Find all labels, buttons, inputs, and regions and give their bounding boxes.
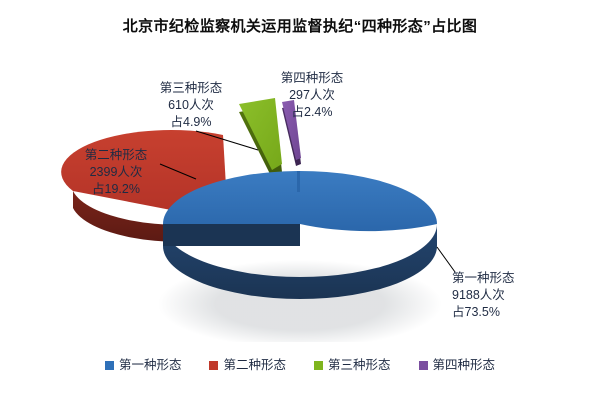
- data-label-3: 第三种形态 610人次 占4.9%: [143, 80, 239, 131]
- legend-label-4: 第四种形态: [433, 357, 496, 373]
- data-label-1-count: 9188人次: [452, 287, 515, 304]
- data-label-1-name: 第一种形态: [452, 270, 515, 287]
- data-label-3-percent: 占4.9%: [143, 114, 239, 131]
- legend-label-2: 第二种形态: [223, 357, 286, 373]
- plot-area: 第一种形态 9188人次 占73.5% 第二种形态 2399人次 占19.2% …: [0, 42, 600, 342]
- legend-item-3[interactable]: 第三种形态: [314, 357, 391, 373]
- pie-slice-1: [163, 171, 437, 299]
- data-label-1: 第一种形态 9188人次 占73.5%: [452, 270, 515, 321]
- data-label-1-percent: 占73.5%: [452, 304, 515, 321]
- pie-slice-1-notch: [297, 171, 300, 192]
- legend-item-1[interactable]: 第一种形态: [105, 357, 182, 373]
- legend-item-4[interactable]: 第四种形态: [419, 357, 496, 373]
- legend-swatch-icon-3: [314, 361, 323, 370]
- data-label-2: 第二种形态 2399人次 占19.2%: [68, 147, 164, 198]
- chart-legend: 第一种形态 第二种形态 第三种形态 第四种形态: [0, 352, 600, 378]
- pie-chart-figure: 北京市纪检监察机关运用监督执纪“四种形态”占比图: [0, 0, 600, 400]
- data-label-2-count: 2399人次: [68, 164, 164, 181]
- data-label-4-percent: 占2.4%: [262, 104, 362, 121]
- data-label-4: 第四种形态 297人次 占2.4%: [262, 70, 362, 121]
- data-label-2-percent: 占19.2%: [68, 181, 164, 198]
- legend-label-1: 第一种形态: [119, 357, 182, 373]
- pie-slice-1-cut-face: [163, 224, 300, 246]
- legend-swatch-icon-1: [105, 361, 114, 370]
- data-label-2-name: 第二种形态: [68, 147, 164, 164]
- chart-title: 北京市纪检监察机关运用监督执纪“四种形态”占比图: [0, 17, 600, 37]
- data-label-3-count: 610人次: [143, 97, 239, 114]
- legend-item-2[interactable]: 第二种形态: [209, 357, 286, 373]
- leader-line-1: [437, 247, 455, 272]
- legend-swatch-icon-2: [209, 361, 218, 370]
- data-label-4-count: 297人次: [262, 87, 362, 104]
- legend-swatch-icon-4: [419, 361, 428, 370]
- legend-label-3: 第三种形态: [328, 357, 391, 373]
- data-label-3-name: 第三种形态: [143, 80, 239, 97]
- data-label-4-name: 第四种形态: [262, 70, 362, 87]
